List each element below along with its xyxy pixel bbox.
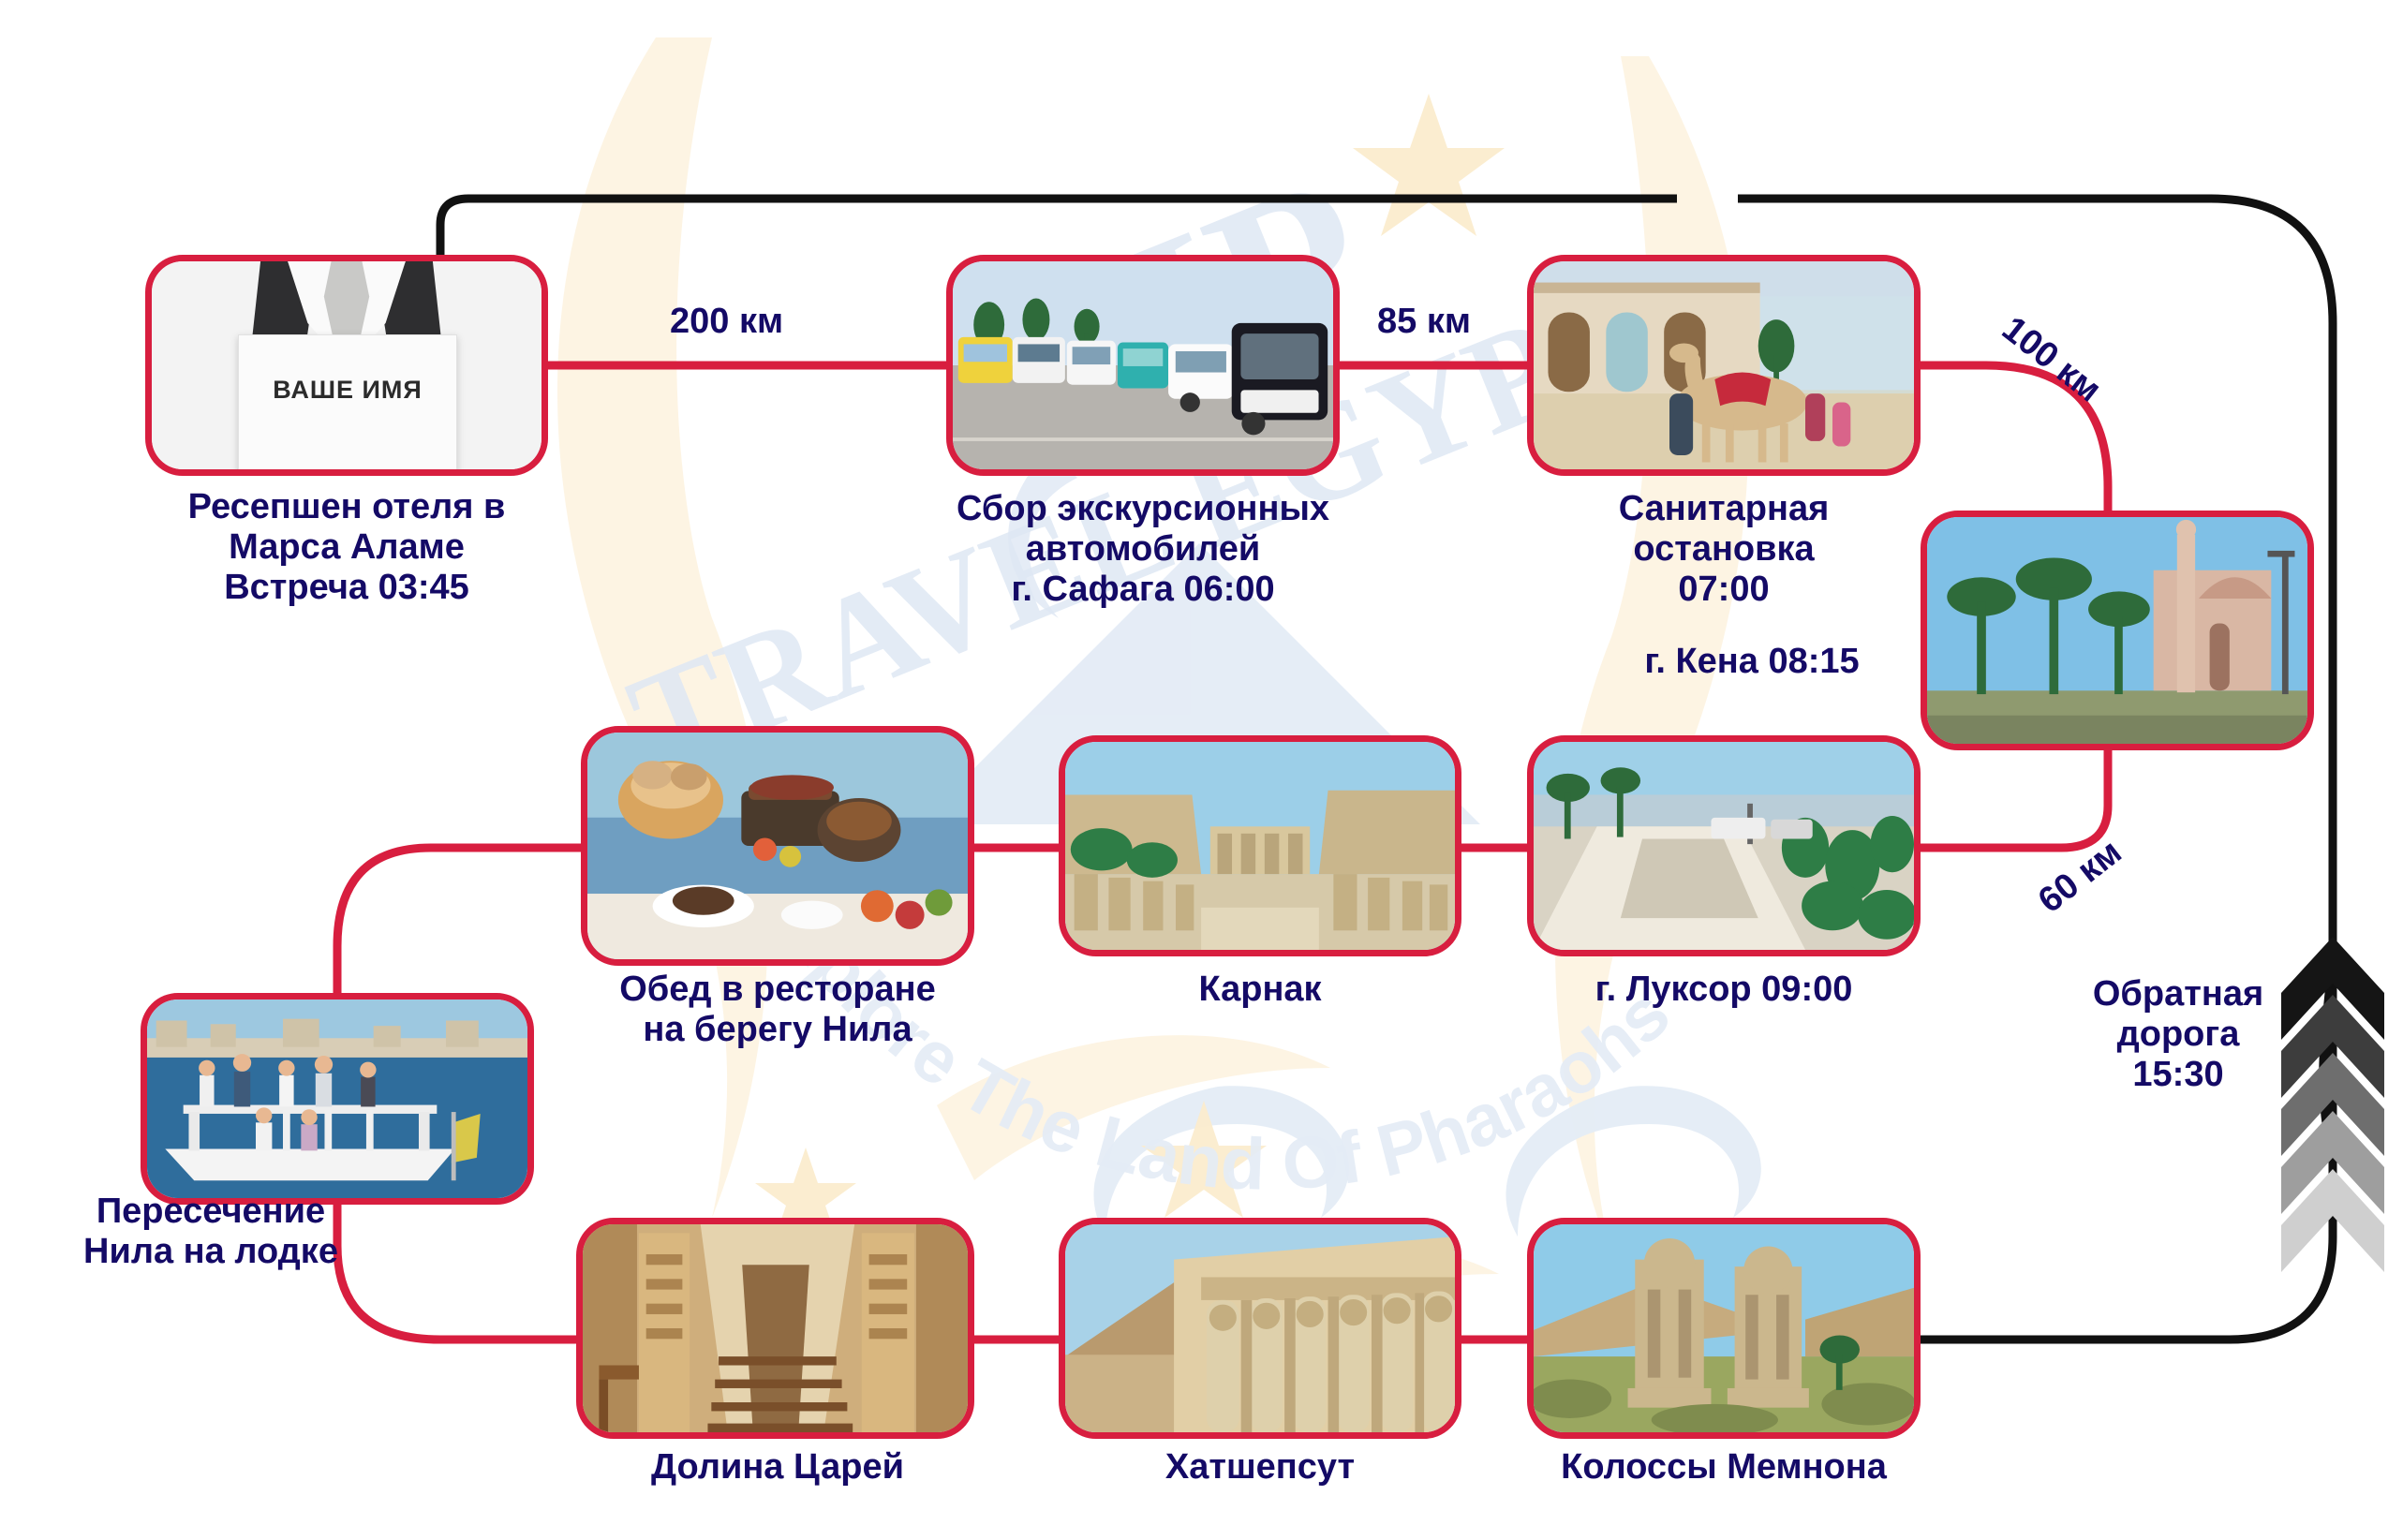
photo-hatshepsut-temple: [1065, 1224, 1455, 1432]
stop-card-memnon[interactable]: [1527, 1218, 1921, 1439]
caption-return-trip: Обратная дорога 15:30: [2052, 974, 2305, 1095]
photo-luxor-corniche: [1534, 742, 1914, 950]
connector-lunch-boat: [337, 848, 581, 993]
photo-nile-boat: [147, 1000, 527, 1198]
photo-excursion-vehicles: [953, 261, 1333, 469]
caption-hatshepsut: Хатшепсут: [1068, 1447, 1452, 1488]
caption-luxor: г. Луксор 09:00: [1536, 970, 1911, 1010]
photo-valley-of-kings: [583, 1224, 968, 1432]
stop-card-luxor[interactable]: [1527, 735, 1921, 956]
stop-card-valley[interactable]: [576, 1218, 974, 1439]
caption-qena: г. Кена 08:15: [1593, 642, 1911, 682]
photo-qena-mosque: [1927, 517, 2307, 744]
photo-karnak-temple: [1065, 742, 1455, 950]
caption-lunch: Обед в ресторане на берегу Нила: [571, 970, 984, 1050]
caption-reception: Ресепшен отеля в Марса Аламе Встреча 03:…: [94, 487, 600, 608]
caption-sanitary: Санитарная остановка 07:00: [1555, 489, 1892, 610]
connector-return-top-left: [440, 199, 1677, 255]
stop-card-sanitary[interactable]: [1527, 255, 1921, 476]
infographic-canvas: VIP TRAVEL EGYPT Explore The Land Of Pha…: [0, 0, 2403, 1540]
name-sign-text: ВАШЕ ИМЯ: [239, 376, 457, 405]
photo-restaurant-nile: [587, 733, 968, 959]
caption-valley: Долина Царей: [581, 1447, 974, 1488]
stop-card-qena[interactable]: [1921, 511, 2314, 750]
photo-rest-stop-camel: [1534, 261, 1914, 469]
stop-card-vehicles[interactable]: [946, 255, 1340, 476]
caption-vehicles: Сбор экскурсионных автомобилей г. Сафага…: [895, 489, 1391, 610]
name-sign-paper: ВАШЕ ИМЯ: [238, 334, 458, 476]
distance-label-200km: 200 км: [670, 302, 783, 342]
stop-card-boat[interactable]: [141, 993, 534, 1205]
caption-boat: Пересечение Нила на лодке: [42, 1192, 379, 1272]
stop-card-karnak[interactable]: [1059, 735, 1461, 956]
caption-karnak: Карнак: [1077, 970, 1443, 1010]
stop-card-hatshepsut[interactable]: [1059, 1218, 1461, 1439]
photo-colossi-memnon: [1534, 1224, 1914, 1432]
connector-qena-luxor: [1921, 749, 2108, 848]
stop-card-reception[interactable]: ВАШЕ ИМЯ: [145, 255, 548, 476]
distance-label-85km: 85 км: [1377, 302, 1471, 342]
caption-memnon: Колоссы Мемнона: [1518, 1447, 1930, 1488]
stop-card-lunch[interactable]: [581, 726, 974, 966]
